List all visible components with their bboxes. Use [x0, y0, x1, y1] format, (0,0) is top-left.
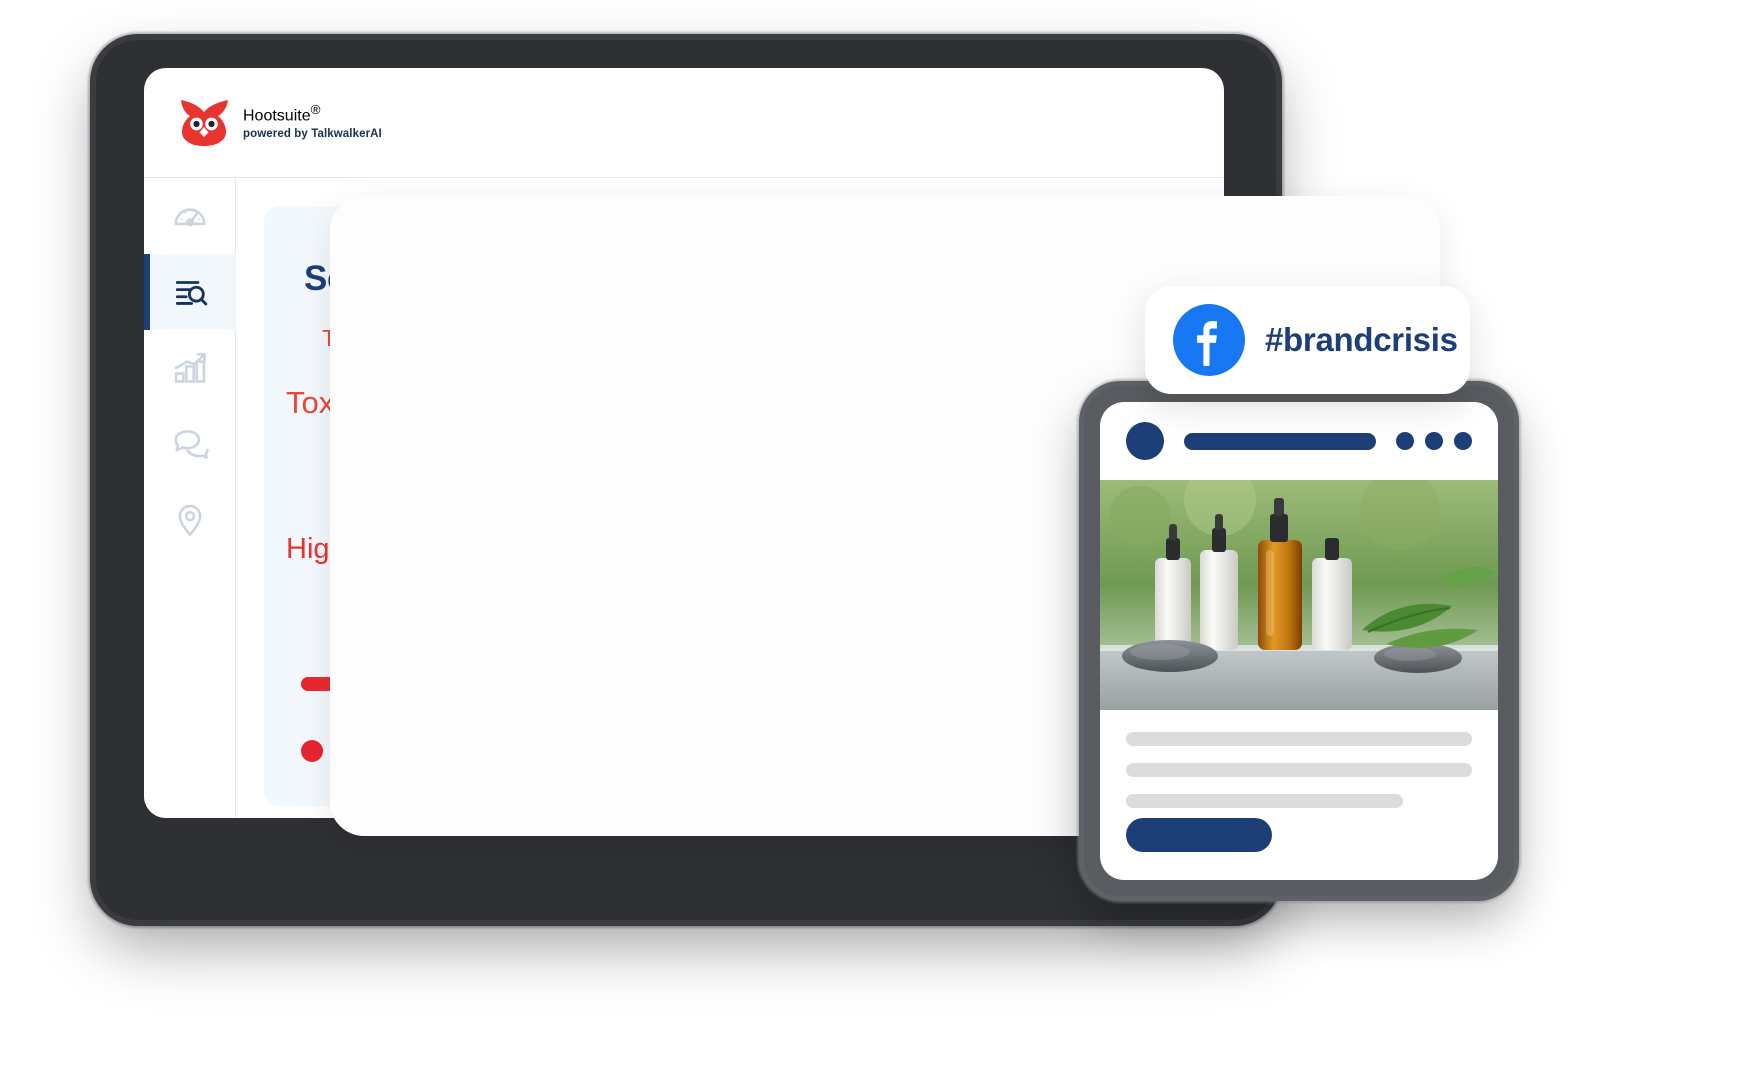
- owl-logo-icon: [177, 96, 233, 148]
- sidebar-item-locations[interactable]: [144, 482, 236, 558]
- brand-logo[interactable]: Hootsuite® powered by TalkwalkerAI: [177, 96, 382, 148]
- facebook-icon: [1173, 304, 1245, 376]
- sidebar: [144, 178, 236, 818]
- sidebar-item-analytics[interactable]: [144, 330, 236, 406]
- menu-dot: [1425, 432, 1443, 450]
- sidebar-item-conversations[interactable]: [144, 406, 236, 482]
- legend-color-dot: [301, 740, 323, 762]
- cosmetic-bottles-photo: [1100, 480, 1498, 710]
- cta-button[interactable]: [1126, 818, 1272, 852]
- facebook-hashtag-badge[interactable]: #brandcrisis: [1145, 286, 1470, 394]
- social-post-card: [1100, 402, 1498, 880]
- post-text-placeholder: [1126, 732, 1472, 825]
- post-title-placeholder: [1184, 433, 1376, 450]
- map-pin-icon: [171, 501, 209, 539]
- brand-tagline: powered by TalkwalkerAI: [243, 129, 382, 141]
- avatar: [1126, 422, 1164, 460]
- more-options-icon[interactable]: [1396, 432, 1472, 450]
- brand-name-text: Hootsuite: [243, 107, 311, 124]
- search-list-icon: [171, 273, 209, 311]
- app-header: Hootsuite® powered by TalkwalkerAI: [144, 68, 1224, 178]
- registered-mark: ®: [311, 102, 321, 117]
- menu-dot: [1396, 432, 1414, 450]
- social-post-device-frame: [1084, 386, 1514, 896]
- chat-bubbles-icon: [171, 425, 209, 463]
- sidebar-item-dashboard[interactable]: [144, 178, 236, 254]
- hashtag-label: #brandcrisis: [1265, 321, 1458, 359]
- skeleton-line: [1126, 763, 1472, 777]
- skeleton-line: [1126, 732, 1472, 746]
- bar-chart-icon: [171, 349, 209, 387]
- sidebar-item-search-listening[interactable]: [144, 254, 236, 330]
- skeleton-line: [1126, 794, 1403, 808]
- post-photo: [1100, 480, 1498, 710]
- brand-name: Hootsuite®: [243, 103, 382, 124]
- gauge-icon: [171, 197, 209, 235]
- menu-dot: [1454, 432, 1472, 450]
- post-header: [1100, 402, 1498, 480]
